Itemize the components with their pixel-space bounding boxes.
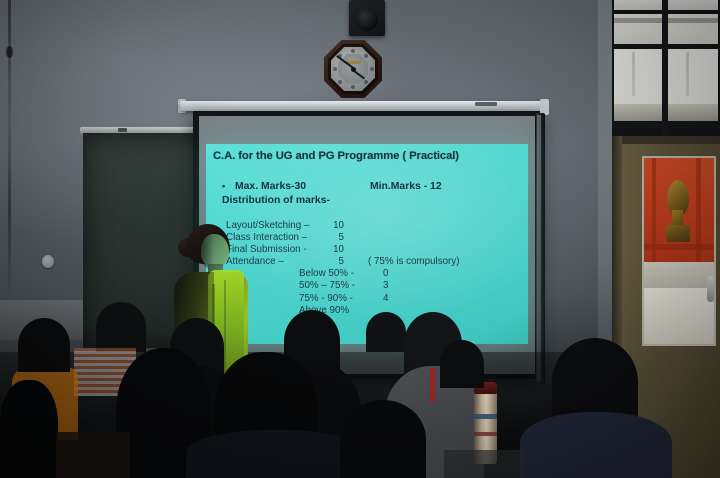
component-value: 10 xyxy=(330,244,344,256)
clock-tick xyxy=(370,67,374,71)
audience-head xyxy=(18,318,70,372)
wall-stain xyxy=(6,46,13,58)
window-pane xyxy=(614,0,662,10)
component-note: ( 75% is compulsory) xyxy=(368,256,459,268)
band-range: 50% – 75% - xyxy=(299,280,355,292)
backdrop-ledge xyxy=(644,244,714,250)
flask-band xyxy=(474,414,497,419)
marks-row: Final Submission - 10 xyxy=(226,244,526,256)
screen-housing-label xyxy=(475,102,497,106)
component-value: 5 xyxy=(330,232,344,244)
lanyard-strap xyxy=(430,368,435,402)
audience-head-foreground xyxy=(340,400,426,478)
flask-band xyxy=(474,432,497,436)
wall-speaker xyxy=(349,0,385,36)
band-points: 4 xyxy=(383,293,388,305)
attendance-row: Above 90% xyxy=(299,305,519,317)
door-top-rail xyxy=(614,136,720,144)
screen-side-rail xyxy=(536,113,545,385)
band-range: 75% - 90% - xyxy=(299,293,353,305)
component-value: 10 xyxy=(330,220,344,232)
audience-head-foreground xyxy=(0,380,58,478)
door-handle[interactable] xyxy=(707,276,714,302)
wall-crack xyxy=(8,0,11,300)
door-glass-panel xyxy=(642,156,716,346)
band-range: Below 50% - xyxy=(299,268,354,280)
window-sill xyxy=(668,104,718,121)
min-marks-text: Min.Marks - 12 xyxy=(370,181,442,192)
attendance-row: 75% - 90% - 4 xyxy=(299,293,519,305)
audience-head xyxy=(366,312,406,352)
classroom-photo: C.A. for the UG and PG Programme ( Pract… xyxy=(0,0,720,478)
attendance-row: Below 50% - 0 xyxy=(299,268,519,280)
glass-lower-pane xyxy=(644,288,714,344)
marks-row: Attendance – 5 ( 75% is compulsory) xyxy=(226,256,526,268)
octagonal-wall-clock xyxy=(324,40,382,98)
glass-mid-band xyxy=(644,262,714,288)
max-marks-text: Max. Marks-30 xyxy=(235,181,306,192)
clock-tick xyxy=(333,67,337,71)
clock-tick xyxy=(364,54,368,58)
audience-shoulders xyxy=(186,430,366,478)
window-sill xyxy=(614,104,662,121)
band-points: 3 xyxy=(383,280,388,292)
clock-tick xyxy=(364,80,368,84)
audience-head xyxy=(96,302,146,352)
window-pane xyxy=(668,0,718,10)
marks-row: Class Interaction – 5 xyxy=(226,232,526,244)
distribution-heading: Distribution of marks- xyxy=(222,195,330,206)
clock-tick xyxy=(351,49,355,53)
wall-socket xyxy=(42,255,54,268)
audience-head xyxy=(440,340,484,388)
slide-title: C.A. for the UG and PG Programme ( Pract… xyxy=(213,150,459,162)
clock-center-pin xyxy=(351,67,356,72)
window-vent-bar xyxy=(668,18,718,23)
marks-component-list: Layout/Sketching – 10 Class Interaction … xyxy=(226,220,526,268)
window-glazing-bar xyxy=(632,52,635,96)
attendance-band-list: Below 50% - 0 50% – 75% - 3 75% - 90% - … xyxy=(299,268,519,318)
clock-tick xyxy=(351,85,355,89)
red-backdrop xyxy=(644,158,714,262)
component-value: 5 xyxy=(330,256,344,268)
speaker-cone-icon xyxy=(356,9,378,31)
clock-tick xyxy=(338,80,342,84)
window-vent-bar xyxy=(614,18,662,23)
window-glazing-bar xyxy=(686,52,689,96)
presenter-face-shadow xyxy=(201,234,214,268)
attendance-row: 50% – 75% - 3 xyxy=(299,280,519,292)
sculpted-head-artwork xyxy=(665,180,691,242)
band-points: 0 xyxy=(383,268,388,280)
bust-base xyxy=(666,225,690,242)
marks-row: Layout/Sketching – 10 xyxy=(226,220,526,232)
window-bottom-rail xyxy=(612,121,720,129)
desk-edge xyxy=(444,450,524,478)
audience-patterned-top xyxy=(520,412,672,478)
window-frame xyxy=(612,0,720,136)
bullet-icon: • xyxy=(222,181,225,191)
desk-edge xyxy=(56,432,130,478)
